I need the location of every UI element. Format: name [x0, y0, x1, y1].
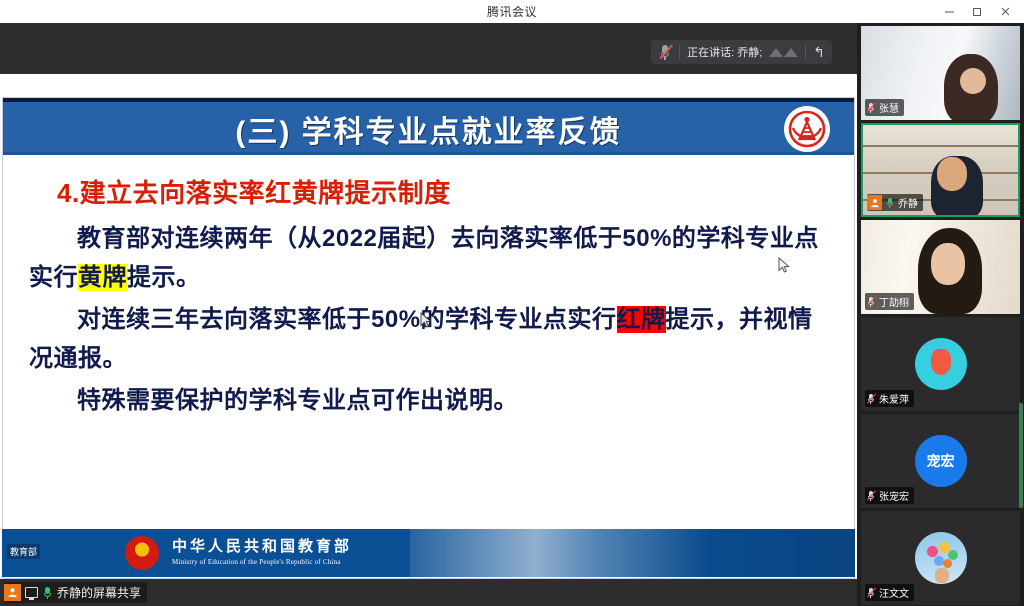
participant-tile-1[interactable]: 乔静: [861, 123, 1020, 217]
para3-part1: 特殊需要保护的学科专业点可作出说明。: [77, 387, 518, 414]
school-emblem-icon: [784, 106, 830, 152]
host-badge-icon-1: [867, 195, 882, 210]
mic-on-icon: [42, 586, 53, 600]
participant-namebar-3: 朱爱萍: [865, 390, 914, 407]
participant-name-3: 朱爱萍: [879, 391, 909, 406]
ministry-tag: 教育部: [7, 544, 40, 559]
active-speaker-pill[interactable]: 正在讲话: 乔静; ↰: [651, 40, 832, 64]
pill-divider-2: [805, 45, 806, 59]
speaking-label: 正在讲话: 乔静;: [687, 44, 762, 60]
mic-on-icon-1: [885, 197, 895, 209]
participant-name-1: 乔静: [898, 195, 918, 210]
slide-banner: (三) 学科专业点就业率反馈: [3, 98, 854, 155]
slide-canvas: (三) 学科专业点就业率反馈 4.建立去向落实率红黄牌提示制度: [2, 97, 855, 579]
participant-namebar-2: 丁劼栩: [865, 293, 914, 310]
para1-highlight-yellow: 黄牌: [78, 264, 127, 291]
shared-screen-slide: (三) 学科专业点就业率反馈 4.建立去向落实率红黄牌提示制度: [0, 74, 857, 579]
participant-namebar-0: 张慧: [865, 99, 904, 116]
minimize-button[interactable]: [936, 1, 962, 22]
participant-name-5: 汪文文: [879, 585, 909, 600]
mic-muted-icon-3: [866, 393, 876, 405]
maximize-button[interactable]: [964, 1, 990, 22]
participant-tile-5[interactable]: 汪文文: [861, 511, 1020, 605]
participant-namebar-1: 乔静: [867, 194, 923, 211]
mic-muted-icon: [658, 44, 672, 60]
participant-tile-2[interactable]: 丁劼栩: [861, 220, 1020, 314]
slide-paragraph-1: 教育部对连续两年（从2022届起）去向落实率低于50%的学科专业点实行黄牌提示。: [29, 220, 828, 298]
participant-name-0: 张慧: [879, 100, 899, 115]
participant-tile-0[interactable]: 张慧: [861, 26, 1020, 120]
ministry-name-en: Ministry of Education of the People's Re…: [172, 558, 352, 566]
panel-scrollbar[interactable]: [1019, 403, 1023, 508]
ministry-building-photo: [410, 529, 710, 577]
participant-name-4: 张宠宏: [879, 488, 909, 503]
host-badge-icon: [4, 584, 21, 601]
participant-avatar-5: [915, 532, 967, 584]
screen-share-icon: [25, 587, 38, 598]
participant-avatar-4: 宠宏: [915, 435, 967, 487]
slide-paragraph-3: 特殊需要保护的学科专业点可作出说明。: [29, 382, 828, 421]
back-arrow-icon[interactable]: ↰: [813, 45, 825, 59]
ministry-name-cn: 中华人民共和国教育部: [172, 535, 352, 556]
para2-part1: 对连续三年去向落实率低于50%的学科专业点实行: [77, 306, 617, 333]
ministry-name-block: 中华人民共和国教育部 Ministry of Education of the …: [172, 535, 352, 566]
window-title-bar: 腾讯会议: [0, 0, 1024, 23]
pill-divider: [679, 45, 680, 59]
screen-share-bar: 乔静的屏幕共享: [0, 579, 857, 606]
slide-paragraph-2: 对连续三年去向落实率低于50%的学科专业点实行红牌提示，并视情况通报。: [29, 301, 828, 379]
slide-body: 4.建立去向落实率红黄牌提示制度 教育部对连续两年（从2022届起）去向落实率低…: [3, 155, 854, 423]
meeting-stage: 正在讲话: 乔静; ↰ (三) 学科专业点就业率反馈: [0, 23, 857, 606]
screen-share-pill[interactable]: 乔静的屏幕共享: [4, 582, 147, 603]
close-button[interactable]: [992, 1, 1018, 22]
screen-share-label: 乔静的屏幕共享: [57, 584, 141, 601]
participant-avatar-3: [915, 338, 967, 390]
participant-strip[interactable]: 张慧 乔静 丁劼栩: [857, 23, 1024, 606]
slide-footer-banner: 教育部 中华人民共和国教育部 Ministry of Education of …: [2, 529, 855, 577]
mic-muted-icon-5: [866, 587, 876, 599]
double-chevron-icon[interactable]: [769, 48, 798, 57]
participant-namebar-5: 汪文文: [865, 584, 914, 601]
participant-tile-4[interactable]: 宠宏 张宠宏: [861, 414, 1020, 508]
mic-muted-icon-2: [866, 296, 876, 308]
participant-name-2: 丁劼栩: [879, 294, 909, 309]
mic-muted-icon-4: [866, 490, 876, 502]
para2-highlight-red: 红牌: [617, 306, 666, 333]
participant-tile-3[interactable]: 朱爱萍: [861, 317, 1020, 411]
window-controls: [936, 0, 1018, 23]
national-emblem-icon: [125, 536, 159, 570]
slide-heading: 4.建立去向落实率红黄牌提示制度: [57, 173, 828, 210]
slide-banner-title: (三) 学科专业点就业率反馈: [235, 107, 621, 151]
stage-top-bar: 正在讲话: 乔静; ↰: [0, 23, 857, 74]
participant-namebar-4: 张宠宏: [865, 487, 914, 504]
mic-muted-icon-0: [866, 102, 876, 114]
avatar-initials-4: 宠宏: [927, 451, 955, 471]
window-title: 腾讯会议: [487, 3, 537, 20]
para1-part3: 提示。: [127, 264, 201, 291]
